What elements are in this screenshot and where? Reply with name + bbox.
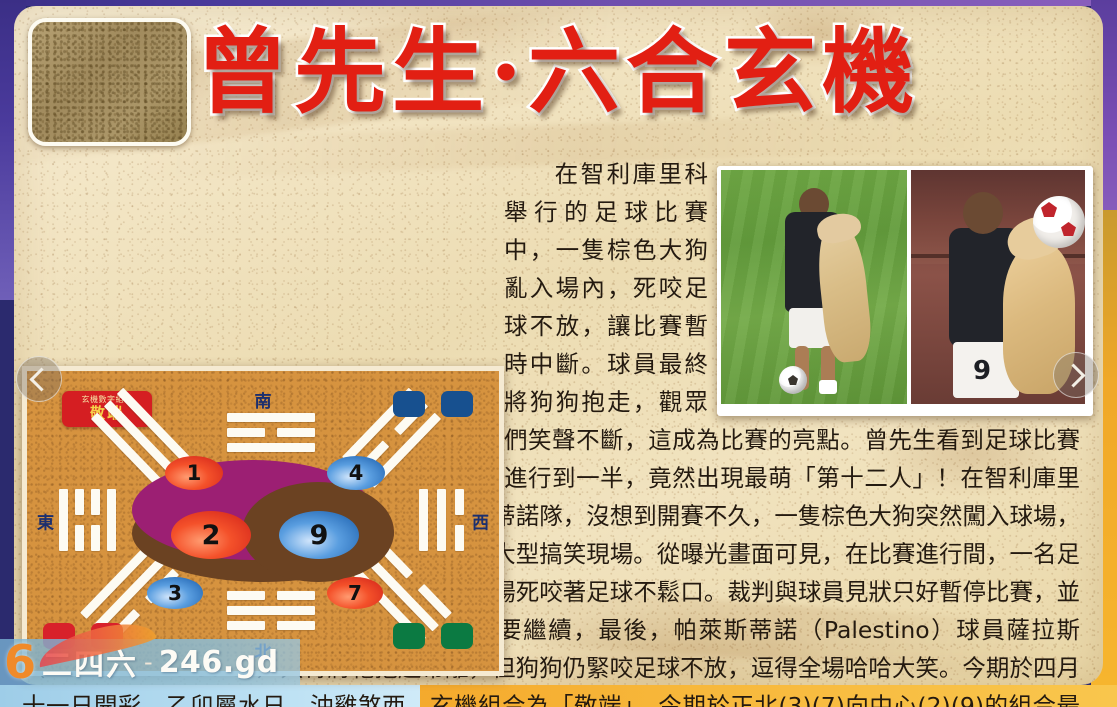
page-header: 曾先生·六合玄機 — [0, 0, 1117, 160]
brand-domain: 246.gd — [159, 645, 279, 680]
site-watermark: 6 二四六 - 246.gd — [0, 639, 300, 685]
soccer-ball — [1033, 196, 1085, 248]
jersey-number: 9 — [973, 356, 991, 386]
photo-left-player-carrying-dog[interactable] — [721, 170, 907, 404]
trigram-zhen-east — [59, 489, 117, 551]
page-root: 曾先生·六合玄機 在智利庫里科舉行的足球比賽中，一隻棕色大狗亂入場內，死咬足球不… — [0, 0, 1117, 707]
brand-separator: - — [144, 648, 153, 676]
corner-chip-green-1 — [393, 623, 425, 649]
chevron-right-icon — [1061, 363, 1085, 387]
trigram-dui-west — [419, 489, 477, 551]
corner-chip-blue-2 — [441, 391, 473, 417]
next-page-button[interactable] — [1053, 352, 1099, 398]
trigram-li-north — [227, 413, 315, 453]
page-title: 曾先生·六合玄機 — [196, 26, 920, 118]
number-bubble-7[interactable]: 7 — [327, 577, 383, 609]
corner-chip-blue-1 — [393, 391, 425, 417]
corner-chip-green-2 — [441, 623, 473, 649]
number-bubble-3[interactable]: 3 — [147, 577, 203, 609]
photo-pair[interactable]: 9 — [717, 166, 1093, 416]
compass-label-east: 東 — [37, 509, 54, 534]
compass-label-north: 南 — [255, 387, 272, 412]
number-bubble-9[interactable]: 9 — [279, 511, 359, 559]
number-bubble-4[interactable]: 4 — [327, 456, 385, 490]
chevron-left-icon — [29, 367, 53, 391]
number-bubble-1[interactable]: 1 — [165, 456, 223, 490]
brand-digit-icon: 6 — [4, 639, 36, 685]
logo-thumbnail — [28, 18, 191, 146]
number-bubble-2[interactable]: 2 — [171, 511, 251, 559]
trigram-kan-south — [227, 591, 315, 631]
soccer-ball — [779, 366, 807, 394]
prev-page-button[interactable] — [16, 356, 62, 402]
player-boot — [819, 380, 837, 394]
player-head — [963, 192, 1003, 234]
